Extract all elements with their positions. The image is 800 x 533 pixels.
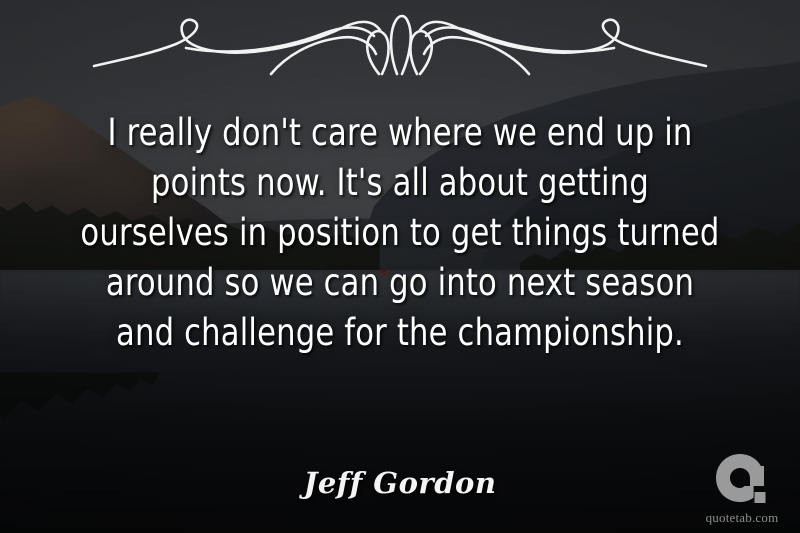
watermark[interactable]: quotetab.com xyxy=(696,452,788,525)
watermark-label: quotetab.com xyxy=(696,510,788,525)
quotetab-logo-icon[interactable] xyxy=(714,452,770,508)
quote-text: I really don't care where we end up in p… xyxy=(78,108,722,358)
quote-card: I really don't care where we end up in p… xyxy=(0,0,800,533)
decorative-flourish-icon xyxy=(90,8,710,76)
quote-author: Jeff Gordon xyxy=(0,466,800,500)
